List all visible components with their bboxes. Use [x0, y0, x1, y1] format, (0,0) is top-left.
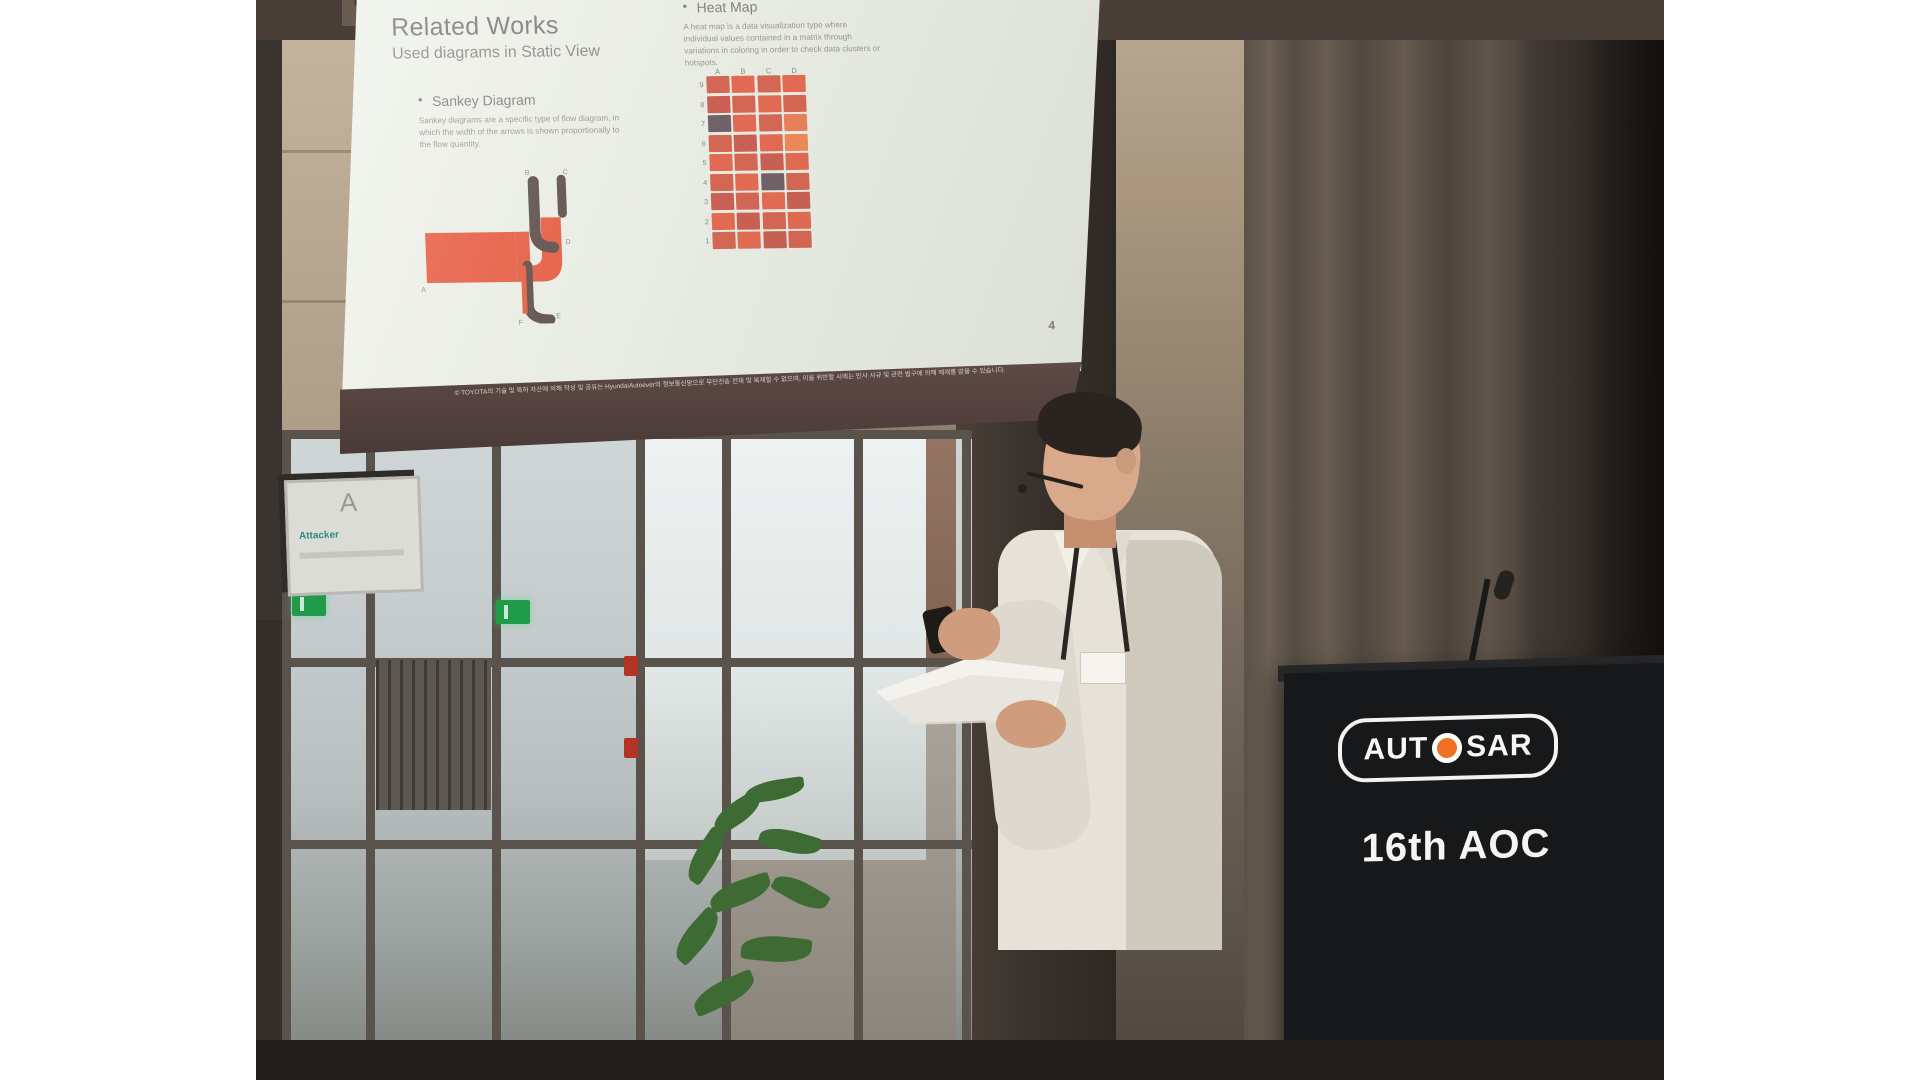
- podium-event-text: 16th AOC: [1346, 821, 1566, 872]
- heat-map-cell: [736, 192, 760, 209]
- heat-col-label: A: [706, 67, 729, 76]
- heat-map-cell: [733, 115, 757, 132]
- letterbox-right: [1664, 0, 1920, 1080]
- heat-map-cell: [708, 134, 732, 151]
- heat-map-cell: [788, 211, 812, 228]
- exit-sign-icon: [496, 600, 530, 624]
- heat-map-cell: [758, 95, 782, 112]
- heat-map-cell: [787, 192, 811, 209]
- podium-autosar-logo: AUT SAR: [1338, 713, 1558, 783]
- heat-map-cell: [763, 231, 787, 248]
- heat-map-cell: [786, 172, 810, 189]
- heat-row-label: 9: [691, 76, 704, 93]
- heat-col-label: C: [757, 66, 780, 75]
- heat-row-label: 1: [697, 232, 710, 249]
- side-monitor: A Attacker: [284, 476, 424, 597]
- heat-col-label: B: [731, 67, 754, 76]
- heat-map-cell: [785, 133, 809, 150]
- monitor-node-letter: A: [339, 487, 357, 519]
- sankey-node-a: A: [421, 287, 426, 294]
- speaker-ear: [1116, 448, 1136, 474]
- heat-map-cell: [711, 212, 735, 229]
- window-transom: [282, 840, 972, 849]
- heat-row-label: 4: [695, 174, 708, 191]
- heat-map-cell: [788, 231, 812, 248]
- slide-title: Related Works: [391, 11, 560, 42]
- heat-map-row: 2: [696, 211, 811, 230]
- heat-map-cell: [707, 115, 731, 132]
- heat-row-label: 8: [692, 96, 705, 113]
- heat-map-cell: [736, 212, 760, 229]
- heat-map-cell: [782, 75, 806, 92]
- door-grill: [376, 660, 491, 810]
- sankey-node-c: C: [563, 169, 568, 176]
- heat-row-label: 7: [693, 115, 706, 132]
- monitor-bar: [300, 549, 404, 559]
- bullet-sankey-label: Sankey Diagram: [432, 92, 536, 109]
- foreground-shadow: [256, 1040, 1664, 1080]
- sankey-node-b: B: [525, 170, 530, 177]
- speaker-shirt-shadow: [1126, 540, 1222, 950]
- heat-map-cell: [757, 75, 781, 92]
- heat-map-cell: [737, 231, 761, 248]
- heat-map-cell: [784, 114, 808, 131]
- heat-map-figure: A B C D 987654321: [691, 66, 813, 252]
- heat-map-row: 5: [694, 153, 809, 172]
- heat-map-cell: [709, 154, 733, 171]
- podium-brand-right: SAR: [1466, 729, 1532, 765]
- heat-map-cell: [734, 154, 758, 171]
- bullet-heatmap-label: Heat Map: [696, 0, 757, 15]
- heat-row-label: 2: [696, 213, 709, 230]
- heat-map-row: 9: [691, 75, 806, 94]
- podium-brand-left: AUT: [1364, 732, 1429, 768]
- heat-map-cell: [783, 94, 807, 111]
- heat-row-label: 5: [694, 154, 707, 171]
- heat-map-cell: [731, 76, 755, 93]
- heat-row-label: 6: [693, 135, 706, 152]
- letterbox-left: [0, 0, 256, 1080]
- heat-map-cell: [732, 95, 756, 112]
- conference-photo: Related Works Used diagrams in Static Vi…: [256, 0, 1664, 1080]
- slide-subtitle: Used diagrams in Static View: [392, 43, 601, 64]
- speaker-person: [956, 390, 1316, 950]
- sankey-node-f: F: [518, 320, 523, 327]
- heat-row-label: 3: [696, 193, 709, 210]
- heat-map-row: 3: [696, 192, 811, 211]
- heat-col-label: D: [782, 66, 805, 75]
- heat-map-cell: [712, 232, 736, 249]
- potted-plant: [656, 760, 856, 1080]
- sankey-diagram-figure: A B C D E F: [421, 173, 617, 326]
- fire-equipment-box: [624, 738, 638, 758]
- heat-map-row: 8: [692, 94, 807, 113]
- heat-map-row: 4: [695, 172, 810, 191]
- heat-map-cell: [761, 173, 785, 190]
- speaker-badge: [1080, 652, 1126, 684]
- heat-map-cell: [785, 153, 809, 170]
- heat-map-cell: [762, 212, 786, 229]
- heat-map-cell: [735, 173, 759, 190]
- heat-map-cell: [759, 134, 783, 151]
- sankey-node-d: D: [565, 239, 570, 246]
- podium-autosar-ring-icon: [1432, 733, 1462, 764]
- heat-map-cell: [707, 95, 731, 112]
- heat-map-cell: [706, 76, 730, 93]
- window-mullion: [492, 430, 501, 1080]
- sankey-node-e: E: [556, 313, 561, 320]
- heat-map-cell: [758, 114, 782, 131]
- heat-map-cell: [734, 134, 758, 151]
- slide-page-number: 4: [1048, 318, 1055, 332]
- presentation-slide: Related Works Used diagrams in Static Vi…: [366, 0, 1089, 378]
- bullet-sankey-body: Sankey diagrams are a specific type of f…: [419, 112, 622, 150]
- speaker-hand-upper: [938, 608, 1000, 660]
- heat-map-grid: 987654321: [691, 75, 812, 249]
- heat-map-cell: [709, 173, 733, 190]
- heat-map-row: 1: [697, 231, 812, 250]
- fire-equipment-box: [624, 656, 638, 676]
- heat-map-cell: [761, 192, 785, 209]
- monitor-caption: Attacker: [299, 530, 339, 542]
- headset-mic-tip: [1018, 484, 1027, 493]
- heat-map-cell: [760, 153, 784, 170]
- speaker-hand-lower: [996, 700, 1066, 748]
- heat-map-cell: [710, 193, 734, 210]
- bullet-heatmap-body: A heat map is a data visualization type …: [683, 19, 881, 69]
- sankey-svg: [421, 173, 617, 326]
- heat-map-row: 7: [693, 114, 808, 133]
- heat-map-row: 6: [693, 133, 808, 152]
